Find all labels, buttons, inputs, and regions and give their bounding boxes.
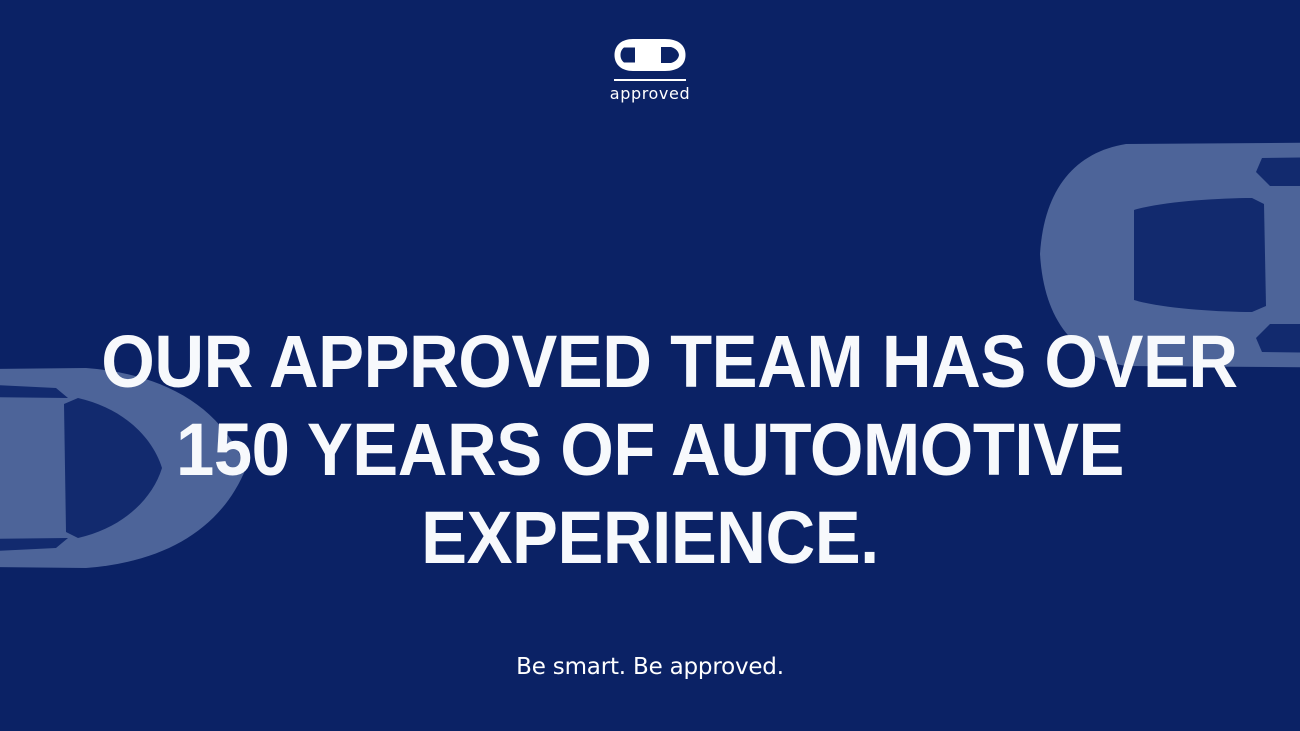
promo-slide: approved OUR APPROVED TEAM HAS OVER 150 … [0,0,1300,731]
headline-line-3: EXPERIENCE. [101,494,1198,582]
headline-line-1: OUR APPROVED TEAM HAS OVER [101,318,1198,406]
brand-logo: approved [0,38,1300,102]
logo-divider [614,79,686,81]
brand-tagline: Be smart. Be approved. [0,654,1300,680]
car-top-view-icon [613,38,687,72]
logo-wordmark: approved [0,85,1300,103]
headline-line-2: 150 YEARS OF AUTOMOTIVE [101,406,1198,494]
page-title: OUR APPROVED TEAM HAS OVER 150 YEARS OF … [101,318,1198,582]
